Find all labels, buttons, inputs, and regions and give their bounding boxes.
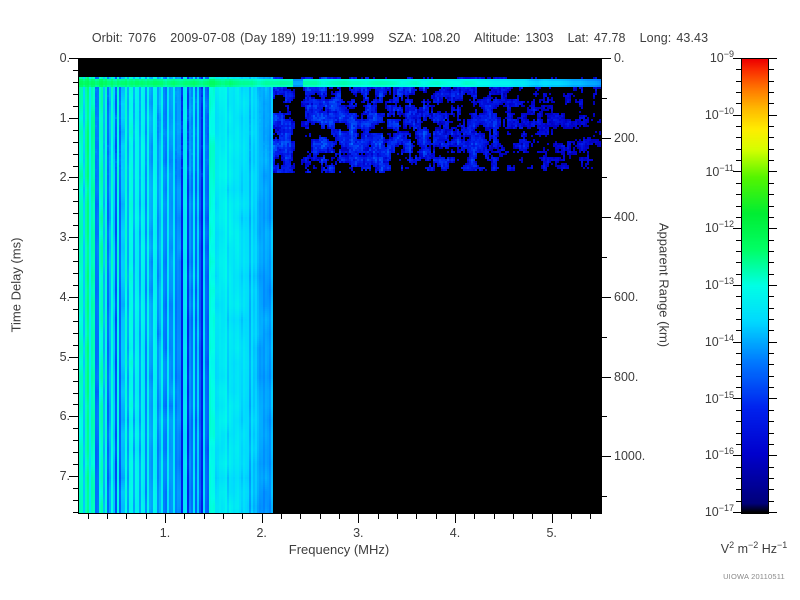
- colorbar: [741, 58, 769, 514]
- colorbar-minor-tick: [769, 489, 774, 490]
- colorbar-major-tick: [769, 115, 777, 116]
- colorbar-minor-tick: [769, 376, 774, 377]
- frequency-minor-tick: [494, 514, 495, 519]
- colorbar-minor-tick: [769, 262, 774, 263]
- frequency-minor-tick: [320, 514, 321, 519]
- frequency-minor-tick: [223, 514, 224, 519]
- colorbar-minor-tick: [769, 137, 774, 138]
- time-delay-major-tick: [69, 416, 78, 417]
- colorbar-major-tick: [733, 58, 741, 59]
- colorbar-major-tick: [733, 342, 741, 343]
- secondary-y-axis-title: Apparent Range (km): [657, 223, 672, 347]
- frequency-minor-tick: [532, 514, 533, 519]
- altitude-label: Altitude:: [474, 31, 520, 45]
- radargram-plot-area: [78, 58, 602, 514]
- apparent-range-major-tick: [602, 377, 611, 378]
- frequency-major-tick: [552, 514, 553, 523]
- latitude-field: Lat:47.78: [568, 31, 626, 45]
- longitude-value: 43.43: [676, 31, 708, 45]
- time-delay-tick-label: 1.: [28, 111, 70, 125]
- colorbar-tick-label: 10−16: [676, 448, 734, 462]
- colorbar-major-tick: [769, 342, 777, 343]
- apparent-range-tick-label: 200.: [614, 131, 638, 145]
- frequency-minor-tick: [436, 514, 437, 519]
- observation-date: 2009-07-08: [170, 31, 235, 45]
- colorbar-minor-tick: [769, 410, 774, 411]
- orbit-label: Orbit:: [92, 31, 123, 45]
- colorbar-minor-tick: [769, 217, 774, 218]
- apparent-range-minor-tick: [602, 496, 607, 497]
- apparent-range-minor-tick: [602, 337, 607, 338]
- time-delay-major-tick: [69, 177, 78, 178]
- colorbar-major-tick: [733, 512, 741, 513]
- colorbar-major-tick: [733, 228, 741, 229]
- frequency-major-tick: [358, 514, 359, 523]
- radargram-canvas: [79, 59, 601, 513]
- time-delay-tick-label: 6.: [28, 409, 70, 423]
- time-delay-tick-label: 4.: [28, 290, 70, 304]
- frequency-minor-tick: [378, 514, 379, 519]
- colorbar-minor-tick: [769, 353, 774, 354]
- colorbar-minor-tick: [769, 478, 774, 479]
- colorbar-tick-label: 10−14: [676, 335, 734, 349]
- colorbar-minor-tick: [769, 183, 774, 184]
- ionogram-page: Orbit:70762009-07-08(Day 189)19:11:19.99…: [0, 0, 800, 600]
- frequency-minor-tick: [184, 514, 185, 519]
- frequency-minor-tick: [474, 514, 475, 519]
- orbit-value: 7076: [128, 31, 156, 45]
- observation-time: 19:11:19.999: [301, 31, 374, 45]
- colorbar-tick-label: 10−17: [676, 505, 734, 519]
- colorbar-tick-label: 10−12: [676, 221, 734, 235]
- colorbar-tick-label: 10−11: [676, 165, 734, 179]
- frequency-minor-tick: [300, 514, 301, 519]
- time-delay-major-tick: [69, 357, 78, 358]
- apparent-range-minor-tick: [602, 177, 607, 178]
- colorbar-major-tick: [733, 455, 741, 456]
- altitude-value: 1303: [525, 31, 553, 45]
- colorbar-major-tick: [769, 455, 777, 456]
- colorbar-tick-label: 10−15: [676, 392, 734, 406]
- credit-watermark: UIOWA 20110511: [723, 572, 785, 581]
- time-delay-major-tick: [69, 237, 78, 238]
- latitude-label: Lat:: [568, 31, 589, 45]
- time-delay-tick-label: 0.: [28, 51, 70, 65]
- colorbar-minor-tick: [769, 501, 774, 502]
- colorbar-minor-tick: [769, 160, 774, 161]
- frequency-tick-label: 2.: [256, 526, 266, 540]
- x-axis-title: Frequency (MHz): [289, 542, 389, 557]
- longitude-field: Long:43.43: [640, 31, 709, 45]
- colorbar-major-tick: [769, 398, 777, 399]
- colorbar-minor-tick: [769, 69, 774, 70]
- colorbar-major-tick: [733, 398, 741, 399]
- apparent-range-major-tick: [602, 138, 611, 139]
- sza-value: 108.20: [421, 31, 460, 45]
- colorbar-canvas: [742, 59, 768, 513]
- colorbar-major-tick: [733, 171, 741, 172]
- longitude-label: Long:: [640, 31, 672, 45]
- time-delay-major-tick: [69, 476, 78, 477]
- colorbar-major-tick: [769, 228, 777, 229]
- colorbar-tick-label: 10−10: [676, 108, 734, 122]
- altitude-field: Altitude:1303: [474, 31, 553, 45]
- apparent-range-tick-label: 400.: [614, 210, 638, 224]
- colorbar-tick-label: 10−13: [676, 278, 734, 292]
- frequency-major-tick: [165, 514, 166, 523]
- datetime-field: 2009-07-08(Day 189)19:11:19.999: [170, 31, 374, 45]
- frequency-minor-tick: [242, 514, 243, 519]
- colorbar-minor-tick: [769, 194, 774, 195]
- sza-label: SZA:: [388, 31, 416, 45]
- frequency-minor-tick: [126, 514, 127, 519]
- frequency-minor-tick: [281, 514, 282, 519]
- time-delay-tick-label: 7.: [28, 469, 70, 483]
- frequency-minor-tick: [397, 514, 398, 519]
- latitude-value: 47.78: [594, 31, 626, 45]
- colorbar-major-tick: [733, 115, 741, 116]
- apparent-range-major-tick: [602, 297, 611, 298]
- colorbar-major-tick: [769, 285, 777, 286]
- apparent-range-major-tick: [602, 58, 611, 59]
- colorbar-minor-tick: [769, 149, 774, 150]
- apparent-range-minor-tick: [602, 416, 607, 417]
- colorbar-minor-tick: [769, 330, 774, 331]
- sza-field: SZA:108.20: [388, 31, 460, 45]
- frequency-minor-tick: [571, 514, 572, 519]
- colorbar-minor-tick: [769, 364, 774, 365]
- colorbar-minor-tick: [769, 274, 774, 275]
- apparent-range-tick-label: 1000.: [614, 449, 645, 463]
- apparent-range-minor-tick: [602, 257, 607, 258]
- colorbar-minor-tick: [769, 387, 774, 388]
- time-delay-tick-label: 2.: [28, 170, 70, 184]
- apparent-range-major-tick: [602, 456, 611, 457]
- day-of-year: (Day 189): [240, 31, 296, 45]
- apparent-range-tick-label: 800.: [614, 370, 638, 384]
- time-delay-major-tick: [69, 58, 78, 59]
- frequency-major-tick: [455, 514, 456, 523]
- frequency-minor-tick: [590, 514, 591, 519]
- colorbar-minor-tick: [769, 296, 774, 297]
- header-metadata: Orbit:70762009-07-08(Day 189)19:11:19.99…: [0, 31, 800, 45]
- y-axis-title: Time Delay (ms): [9, 238, 24, 333]
- colorbar-minor-tick: [769, 240, 774, 241]
- frequency-tick-label: 3.: [353, 526, 363, 540]
- colorbar-minor-tick: [769, 421, 774, 422]
- orbit-field: Orbit:7076: [92, 31, 156, 45]
- colorbar-major-tick: [733, 285, 741, 286]
- colorbar-minor-tick: [769, 92, 774, 93]
- apparent-range-tick-label: 0.: [614, 51, 624, 65]
- colorbar-minor-tick: [769, 433, 774, 434]
- frequency-minor-tick: [204, 514, 205, 519]
- colorbar-minor-tick: [769, 81, 774, 82]
- frequency-major-tick: [262, 514, 263, 523]
- apparent-range-tick-label: 600.: [614, 290, 638, 304]
- colorbar-minor-tick: [769, 319, 774, 320]
- time-delay-major-tick: [69, 297, 78, 298]
- time-delay-tick-label: 5.: [28, 350, 70, 364]
- colorbar-major-tick: [769, 58, 777, 59]
- colorbar-units-label: V2 m−2 Hz−1: [721, 542, 788, 556]
- frequency-minor-tick: [146, 514, 147, 519]
- frequency-tick-label: 1.: [160, 526, 170, 540]
- apparent-range-minor-tick: [602, 98, 607, 99]
- frequency-minor-tick: [513, 514, 514, 519]
- frequency-minor-tick: [88, 514, 89, 519]
- colorbar-minor-tick: [769, 206, 774, 207]
- frequency-tick-label: 5.: [546, 526, 556, 540]
- time-delay-tick-label: 3.: [28, 230, 70, 244]
- colorbar-tick-label: 10−9: [676, 51, 734, 65]
- colorbar-minor-tick: [769, 126, 774, 127]
- frequency-minor-tick: [107, 514, 108, 519]
- time-delay-major-tick: [69, 118, 78, 119]
- colorbar-minor-tick: [769, 308, 774, 309]
- colorbar-major-tick: [769, 171, 777, 172]
- colorbar-minor-tick: [769, 467, 774, 468]
- colorbar-minor-tick: [769, 251, 774, 252]
- colorbar-major-tick: [769, 512, 777, 513]
- apparent-range-major-tick: [602, 217, 611, 218]
- colorbar-minor-tick: [769, 444, 774, 445]
- frequency-tick-label: 4.: [450, 526, 460, 540]
- frequency-minor-tick: [339, 514, 340, 519]
- frequency-minor-tick: [416, 514, 417, 519]
- colorbar-minor-tick: [769, 103, 774, 104]
